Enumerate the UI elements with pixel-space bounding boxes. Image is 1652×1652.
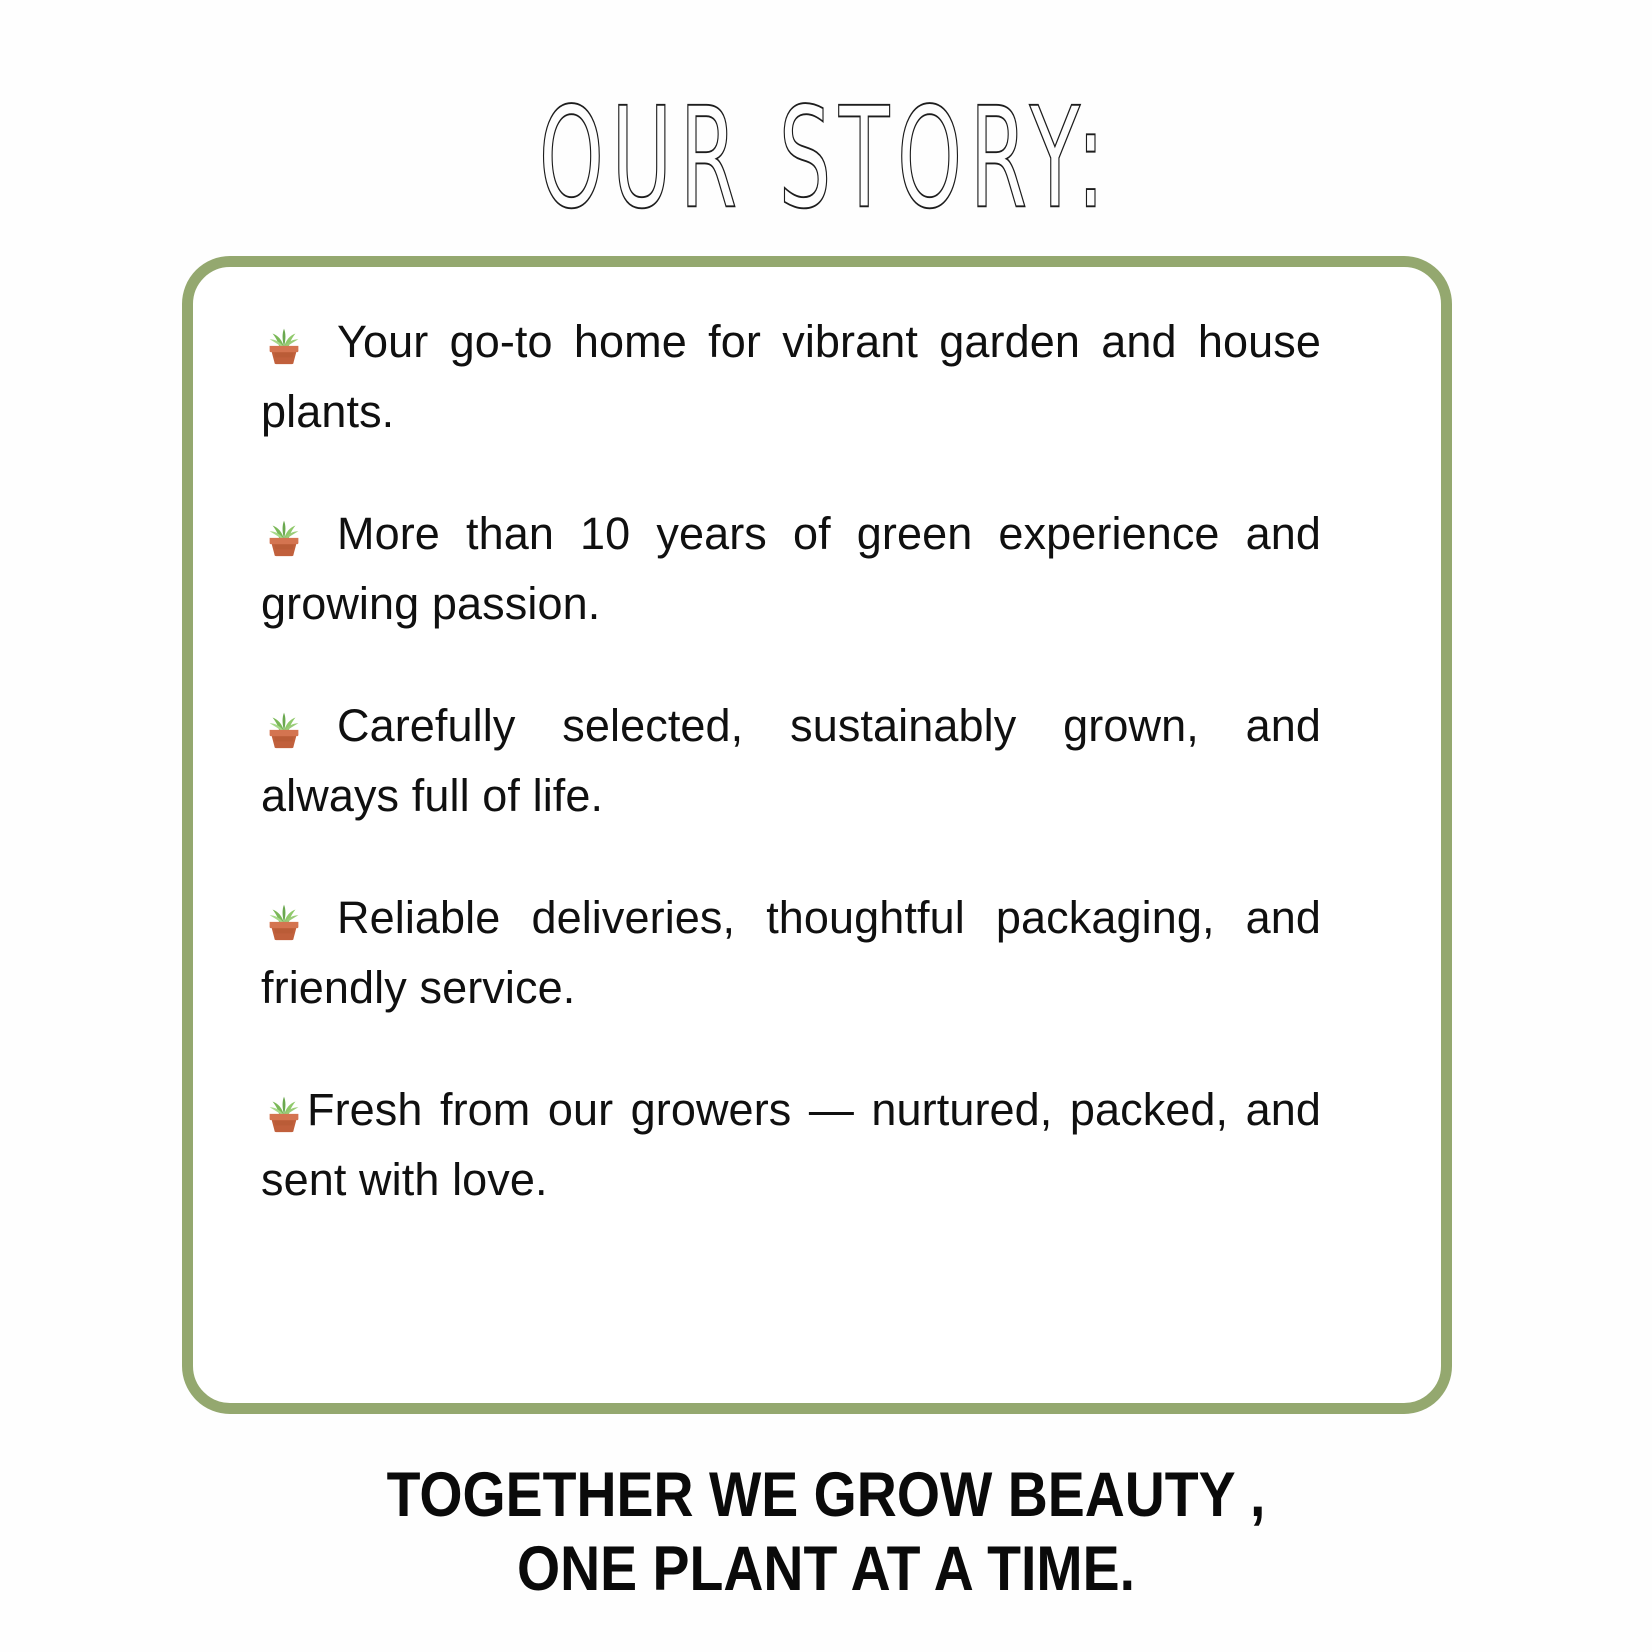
potted-plant-icon: [261, 1089, 307, 1135]
tagline-line-2: ONE PLANT AT A TIME.: [99, 1532, 1553, 1606]
story-card: Your go-to home for vibrant garden and h…: [182, 256, 1452, 1414]
footer-tagline: TOGETHER WE GROW BEAUTY , ONE PLANT AT A…: [0, 1458, 1652, 1606]
page-title: OUR STORY:: [539, 86, 1112, 232]
page-title-container: OUR STORY:: [0, 86, 1652, 210]
potted-plant-icon: [261, 897, 307, 943]
story-bullet-list: Your go-to home for vibrant garden and h…: [261, 307, 1321, 1215]
list-item: More than 10 years of green experience a…: [261, 499, 1321, 639]
list-item: Fresh from our growers — nurtured, packe…: [261, 1075, 1321, 1215]
list-item-text: More than 10 years of green experience a…: [261, 508, 1321, 629]
tagline-line-1: TOGETHER WE GROW BEAUTY ,: [99, 1458, 1553, 1532]
list-item: Reliable deliveries, thoughtful packagin…: [261, 883, 1321, 1023]
list-item: Your go-to home for vibrant garden and h…: [261, 307, 1321, 447]
potted-plant-icon: [261, 513, 307, 559]
potted-plant-icon: [261, 705, 307, 751]
list-item-text: Reliable deliveries, thoughtful packagin…: [261, 892, 1321, 1013]
potted-plant-icon: [261, 321, 307, 367]
list-item: Carefully selected, sustainably grown, a…: [261, 691, 1321, 831]
our-story-poster: OUR STORY:: [0, 0, 1652, 1652]
list-item-text: Carefully selected, sustainably grown, a…: [261, 700, 1321, 821]
list-item-text: Your go-to home for vibrant garden and h…: [261, 316, 1321, 437]
list-item-text: Fresh from our growers — nurtured, packe…: [261, 1084, 1321, 1205]
